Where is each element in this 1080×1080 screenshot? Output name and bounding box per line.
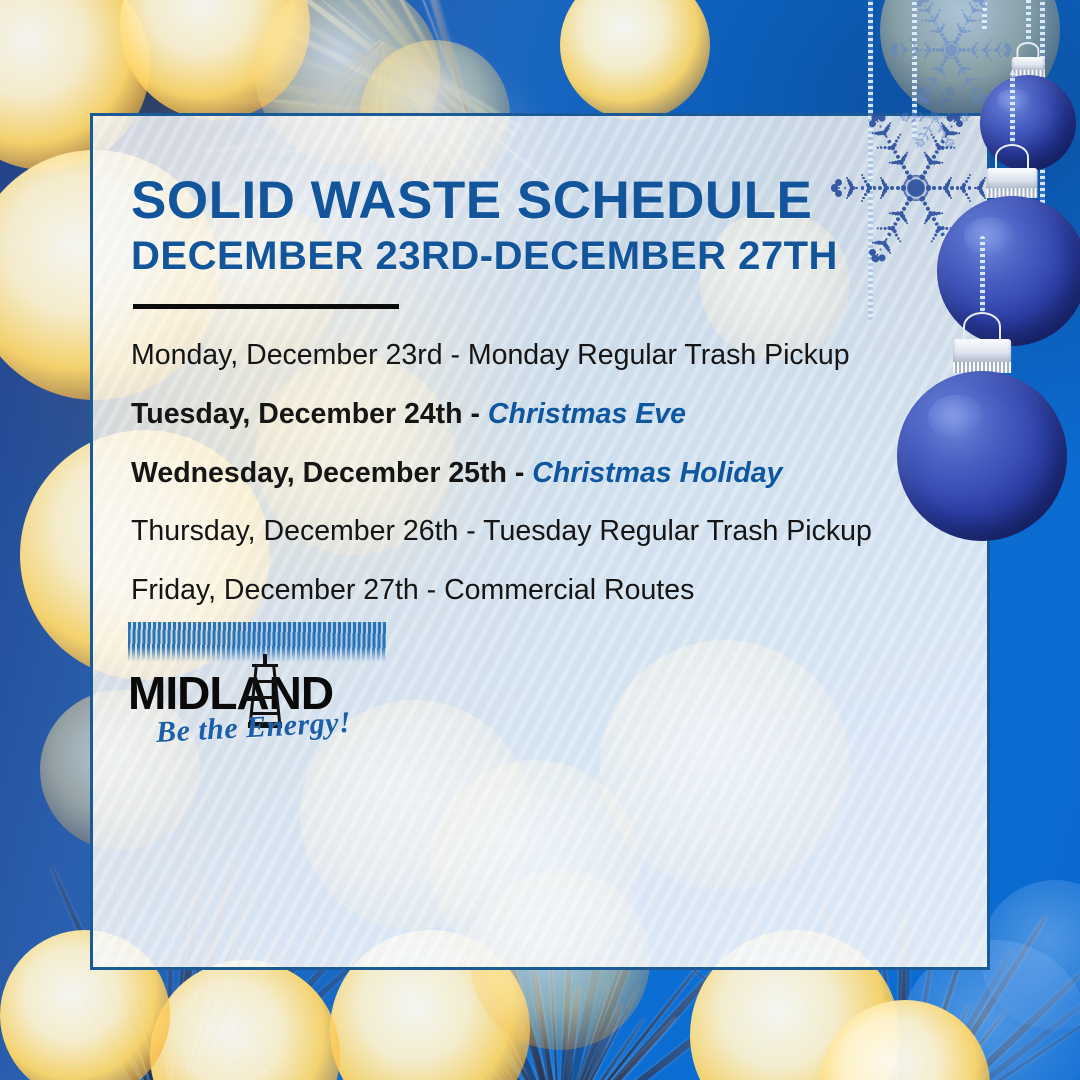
schedule-day-date: Tuesday, December 24th -	[131, 398, 488, 430]
midland-logo: MIDLAND Be the Energy!	[128, 618, 390, 748]
ornament-loop	[995, 144, 1029, 170]
ornament-loop	[963, 312, 1001, 341]
schedule-row: Tuesday, December 24th - Christmas Eve	[131, 398, 987, 431]
schedule-day-date: Thursday, December 26th - Tuesday Regula…	[131, 515, 872, 547]
schedule-row: Friday, December 27th - Commercial Route…	[131, 574, 987, 607]
schedule-list: Monday, December 23rd - Monday Regular T…	[131, 339, 987, 607]
ornament-cap	[987, 168, 1038, 198]
ornament-string	[1026, 0, 1031, 42]
schedule-holiday-label: Christmas Eve	[488, 398, 686, 430]
schedule-row: Wednesday, December 25th - Christmas Hol…	[131, 457, 987, 490]
title-divider	[133, 304, 399, 309]
schedule-day-date: Friday, December 27th - Commercial Route…	[131, 574, 694, 606]
schedule-holiday-label: Christmas Holiday	[532, 457, 782, 489]
ornament-sphere	[897, 371, 1067, 541]
schedule-row: Thursday, December 26th - Tuesday Regula…	[131, 515, 987, 548]
schedule-day-date: Monday, December 23rd - Monday Regular T…	[131, 339, 850, 371]
ornament-cap	[953, 339, 1011, 373]
schedule-day-date: Wednesday, December 25th -	[131, 457, 532, 489]
ornament-string	[980, 236, 985, 312]
holiday-schedule-poster: SOLID WASTE SCHEDULE DECEMBER 23RD-DECEM…	[0, 0, 1080, 1080]
ornament-string	[1010, 72, 1015, 144]
ornament-ball-icon	[897, 236, 1067, 543]
schedule-row: Monday, December 23rd - Monday Regular T…	[131, 339, 987, 372]
